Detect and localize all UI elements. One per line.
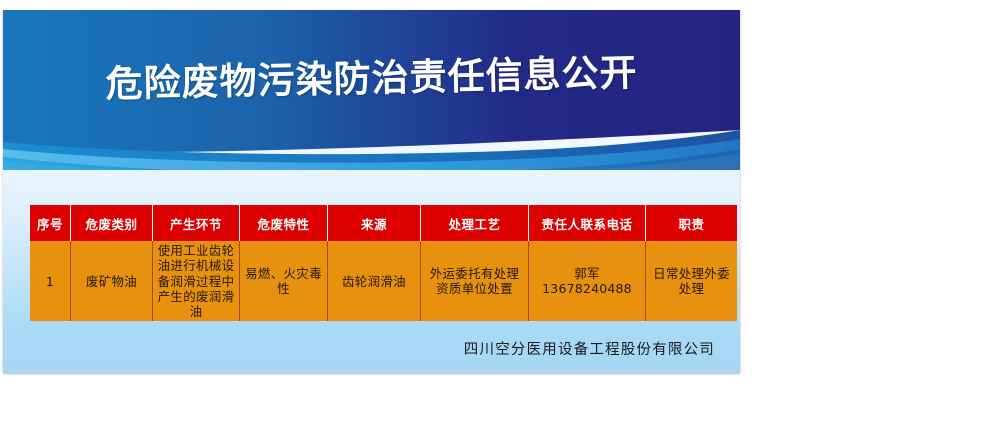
cell-treatment-process: 外运委托有处理资质单位处置: [421, 241, 529, 321]
cell-duty: 日常处理外委处理: [646, 241, 738, 321]
company-name: 四川空分医用设备工程股份有限公司: [3, 338, 715, 359]
cell-index: 1: [30, 241, 71, 321]
table-header-row: 序号 危废类别 产生环节 危废特性 来源 处理工艺 责任人联系电话 职责: [30, 205, 737, 241]
cell-category: 废矿物油: [71, 241, 153, 321]
poster-banner: 危险废物污染防治责任信息公开: [3, 10, 740, 170]
table-body: 1 废矿物油 使用工业齿轮油进行机械设备润滑过程中产生的废润滑油 易燃、火灾毒性…: [30, 241, 737, 321]
information-disclosure-poster: 危险废物污染防治责任信息公开 序号 危废类别 产生环节 危废特性 来源 处理工艺…: [3, 10, 740, 373]
banner-background-graphic: [3, 10, 740, 170]
column-header-source: 来源: [328, 205, 421, 241]
column-header-property: 危废特性: [240, 205, 328, 241]
contact-phone-number: 13678240488: [532, 281, 642, 296]
column-header-duty: 职责: [646, 205, 738, 241]
cell-contact: 郭军 13678240488: [529, 241, 646, 321]
cell-source: 齿轮润滑油: [328, 241, 421, 321]
column-header-index: 序号: [30, 205, 71, 241]
table-header: 序号 危废类别 产生环节 危废特性 来源 处理工艺 责任人联系电话 职责: [30, 205, 737, 241]
contact-person-name: 郭军: [532, 266, 642, 281]
column-header-stage: 产生环节: [153, 205, 240, 241]
table-row: 1 废矿物油 使用工业齿轮油进行机械设备润滑过程中产生的废润滑油 易燃、火灾毒性…: [30, 241, 737, 321]
column-header-category: 危废类别: [71, 205, 153, 241]
cell-generation-stage: 使用工业齿轮油进行机械设备润滑过程中产生的废润滑油: [153, 241, 240, 321]
hazardous-waste-table: 序号 危废类别 产生环节 危废特性 来源 处理工艺 责任人联系电话 职责 1 废…: [30, 205, 737, 321]
column-header-treatment: 处理工艺: [421, 205, 529, 241]
column-header-contact: 责任人联系电话: [529, 205, 646, 241]
cell-hazard-property: 易燃、火灾毒性: [240, 241, 328, 321]
